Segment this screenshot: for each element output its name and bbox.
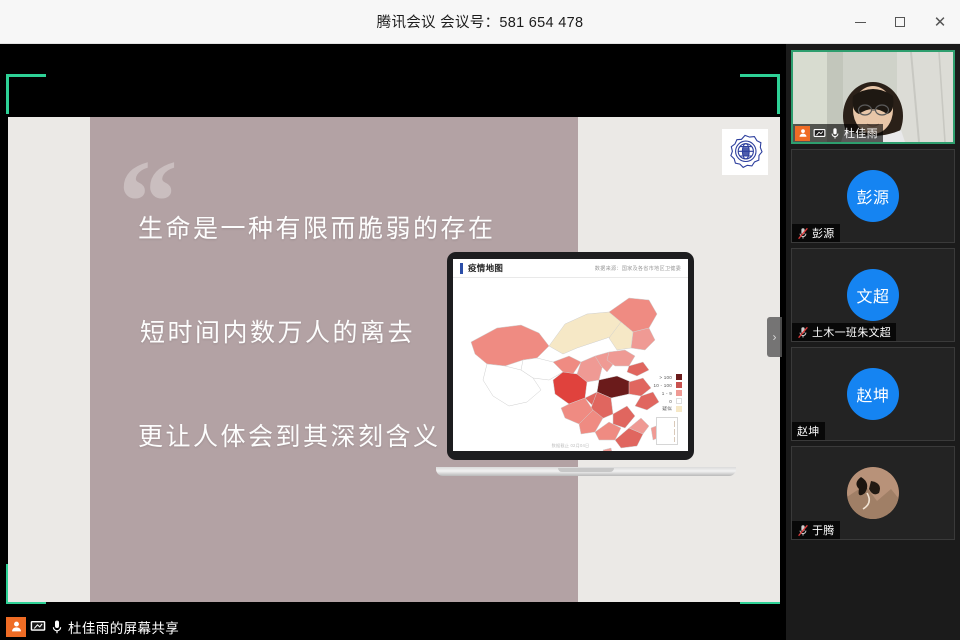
avatar: 彭源	[847, 170, 899, 222]
legend-label: > 100	[659, 375, 672, 380]
minimize-button[interactable]	[840, 0, 880, 44]
avatar: 文超	[847, 269, 899, 321]
map-source-label: 数据来源：国家及各省市地区卫健委	[595, 265, 681, 272]
legend-item: 0	[654, 397, 682, 405]
inset-mark	[674, 437, 675, 442]
south-china-sea-inset	[656, 417, 678, 445]
screen-share-icon	[29, 619, 47, 635]
participant-tile[interactable]: 杜佳雨	[791, 50, 955, 144]
participant-name: 土木一班朱文超	[812, 324, 891, 340]
participant-rail[interactable]: 杜佳雨 彭源 彭源 文超 土木一班朱文超 赵坤	[786, 44, 960, 640]
slide-line-1: 生命是一种有限而脆弱的存在	[138, 209, 568, 245]
participant-name: 彭源	[812, 225, 835, 241]
laptop-illustration: 疫情地图 数据来源：国家及各省市地区卫健委	[436, 252, 736, 484]
tencent-meeting-window: 腾讯会议 会议号：581 654 478 ✕ “ 生命是一种有限而脆弱的存在	[0, 0, 960, 640]
participant-tile[interactable]: 赵坤 赵坤	[791, 347, 955, 441]
legend-label: 0	[669, 399, 672, 404]
participant-tile-footer: 杜佳雨	[793, 124, 883, 142]
inset-mark	[674, 421, 675, 427]
participant-name: 赵坤	[797, 423, 820, 439]
laptop-screen: 疫情地图 数据来源：国家及各省市地区卫健委	[453, 259, 688, 451]
collapse-panel-button[interactable]: ›	[767, 317, 782, 357]
shared-slide: “ 生命是一种有限而脆弱的存在 短时间内数万人的离去 更让人体会到其深刻含义	[8, 117, 780, 602]
avatar: 赵坤	[847, 368, 899, 420]
close-button[interactable]: ✕	[920, 0, 960, 44]
map-title-accent-bar	[460, 263, 463, 274]
map-legend: > 100 10 - 100 1 - 9	[654, 373, 682, 413]
participant-tile-footer: 土木一班朱文超	[792, 323, 896, 341]
microphone-muted-icon	[797, 523, 809, 538]
legend-label: 1 - 9	[662, 391, 672, 396]
legend-swatch	[676, 406, 682, 412]
legend-item: 疑似	[654, 405, 682, 413]
microphone-muted-icon	[797, 325, 809, 340]
laptop-base	[436, 467, 736, 476]
legend-label: 疑似	[662, 406, 672, 412]
window-title: 腾讯会议 会议号：581 654 478	[377, 11, 584, 32]
map-title: 疫情地图	[468, 262, 503, 274]
close-icon: ✕	[934, 15, 947, 30]
laptop-notch	[558, 468, 614, 472]
chevron-right-icon: ›	[773, 330, 777, 344]
map-body: > 100 10 - 100 1 - 9	[453, 278, 688, 451]
avatar	[847, 467, 899, 519]
legend-swatch	[676, 398, 682, 404]
legend-label: 10 - 100	[654, 383, 672, 388]
map-footer-note: 数据截止 02月04日	[552, 443, 590, 449]
inset-mark	[674, 429, 675, 435]
participant-tile[interactable]: 文超 土木一班朱文超	[791, 248, 955, 342]
participant-tile[interactable]: 彭源 彭源	[791, 149, 955, 243]
participant-tile-footer: 彭源	[792, 224, 840, 242]
shared-screen-area: “ 生命是一种有限而脆弱的存在 短时间内数万人的离去 更让人体会到其深刻含义	[0, 44, 786, 640]
participant-tile-footer: 于腾	[792, 521, 840, 539]
microphone-icon	[50, 618, 64, 636]
participant-tile[interactable]: 于腾	[791, 446, 955, 540]
window-controls: ✕	[840, 0, 960, 44]
microphone-muted-icon	[797, 226, 809, 241]
legend-swatch	[676, 374, 682, 380]
maximize-button[interactable]	[880, 0, 920, 44]
legend-swatch	[676, 382, 682, 388]
participant-tile-footer: 赵坤	[792, 422, 825, 440]
microphone-icon	[829, 126, 841, 141]
legend-item: > 100	[654, 373, 682, 381]
legend-swatch	[676, 390, 682, 396]
map-header: 疫情地图 数据来源：国家及各省市地区卫健委	[453, 259, 688, 278]
university-emblem-icon	[722, 129, 768, 175]
maximize-icon	[895, 17, 905, 27]
screen-share-icon	[812, 127, 827, 140]
share-border-bracket-top-left	[6, 74, 46, 114]
host-icon	[795, 126, 810, 141]
share-border-bracket-top-right	[740, 74, 780, 114]
china-choropleth-map	[453, 278, 688, 451]
title-bar: 腾讯会议 会议号：581 654 478 ✕	[0, 0, 960, 44]
laptop-lid: 疫情地图 数据来源：国家及各省市地区卫健委	[447, 252, 694, 460]
legend-item: 10 - 100	[654, 381, 682, 389]
participant-name: 杜佳雨	[844, 125, 878, 141]
share-status-label: 杜佳雨的屏幕共享	[68, 617, 179, 637]
participant-name: 于腾	[812, 522, 835, 538]
minimize-icon	[855, 22, 866, 23]
share-status-bar: 杜佳雨的屏幕共享	[0, 613, 786, 640]
host-icon	[6, 617, 26, 637]
legend-item: 1 - 9	[654, 389, 682, 397]
